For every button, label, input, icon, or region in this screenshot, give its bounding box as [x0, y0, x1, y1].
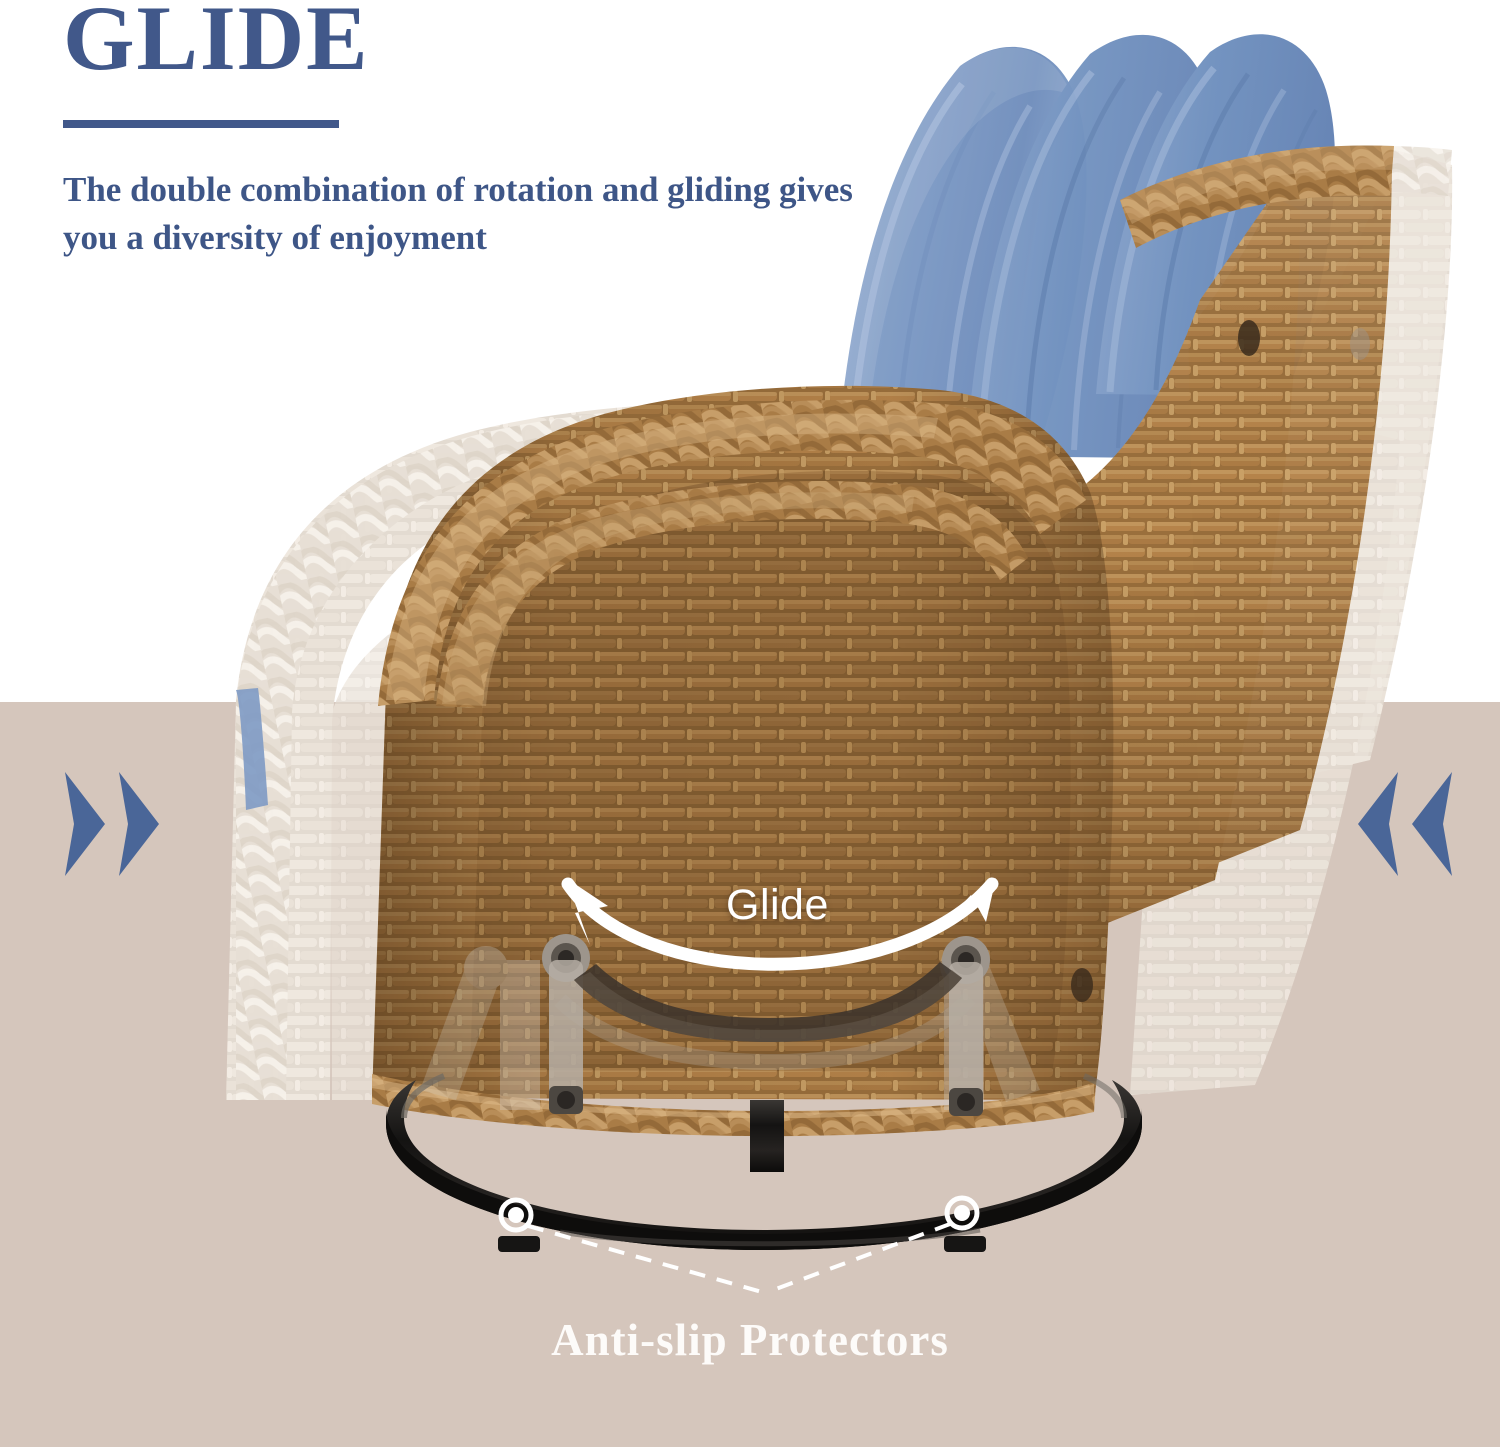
chevron-right-icon	[116, 770, 162, 878]
chevrons-right-group	[1355, 770, 1455, 878]
chevron-right-icon	[62, 770, 108, 878]
chevron-left-icon	[1355, 770, 1401, 878]
header-block: GLIDE The double combination of rotation…	[63, 0, 943, 263]
chevron-left-icon	[1409, 770, 1455, 878]
glide-arrow-label: Glide	[726, 881, 829, 930]
title-divider	[63, 120, 339, 128]
product-feature-image: GLIDE The double combination of rotation…	[0, 0, 1500, 1447]
antislip-protectors-label: Anti-slip Protectors	[0, 1314, 1500, 1366]
subtitle-text: The double combination of rotation and g…	[63, 166, 893, 263]
page-title: GLIDE	[63, 0, 943, 84]
chevrons-left-group	[62, 770, 162, 878]
